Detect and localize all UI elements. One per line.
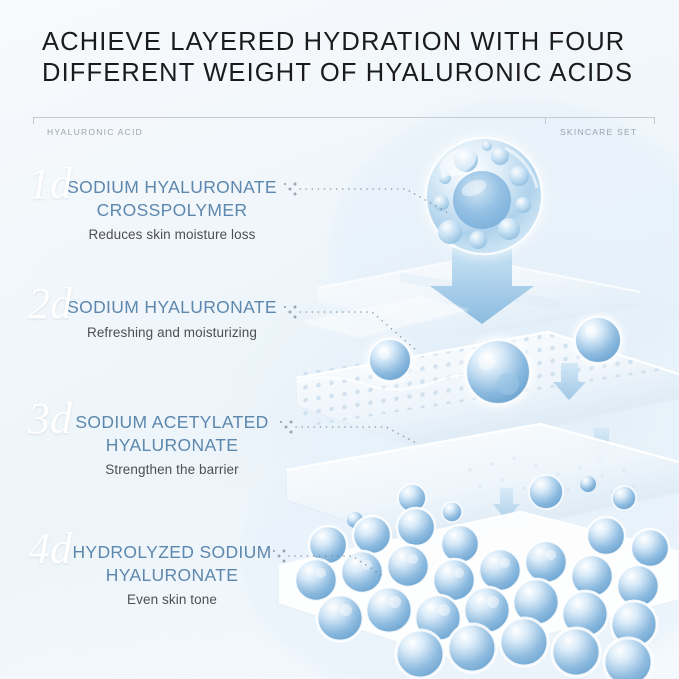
ingredient-subtitle-3: Strengthen the barrier [22,461,322,479]
title-line-1: ACHIEVE LAYERED HYDRATION WITH FOUR [42,27,642,58]
leader-line-1 [300,189,450,214]
rule-divider [33,117,655,118]
ingredient-block-3: 3d SODIUM ACETYLATED HYALURONATE Strengt… [22,411,322,479]
section-rule: HYALURONIC ACID SKINCARE SET [33,117,655,143]
rule-tick-middle [545,117,546,124]
title-line-2: DIFFERENT WEIGHT OF HYALURONIC ACIDS [42,58,642,89]
rule-label-skincare-set: SKINCARE SET [560,127,637,137]
ingredient-block-2: 2d SODIUM HYALURONATE Refreshing and moi… [22,296,322,342]
ingredient-subtitle-4: Even skin tone [22,591,322,609]
rule-label-hyaluronic-acid: HYALURONIC ACID [47,127,143,137]
ingredient-heading-3: SODIUM ACETYLATED HYALURONATE [22,411,322,456]
ingredient-heading-4: HYDROLYZED SODIUM HYALURONATE [22,541,322,586]
ingredient-heading-1: SODIUM HYALURONATE CROSSPOLYMER [22,176,322,221]
rule-tick-right [654,117,655,124]
ingredient-subtitle-1: Reduces skin moisture loss [22,226,322,244]
ingredient-subtitle-2: Refreshing and moisturizing [22,324,322,342]
page-title: ACHIEVE LAYERED HYDRATION WITH FOUR DIFF… [42,27,642,89]
ingredient-block-1: 1d SODIUM HYALURONATE CROSSPOLYMER Reduc… [22,176,322,244]
ingredient-block-4: 4d HYDROLYZED SODIUM HYALURONATE Even sk… [22,541,322,609]
rule-tick-left [33,117,34,124]
ingredient-heading-2: SODIUM HYALURONATE [22,296,322,319]
infographic-poster: ACHIEVE LAYERED HYDRATION WITH FOUR DIFF… [0,0,679,679]
